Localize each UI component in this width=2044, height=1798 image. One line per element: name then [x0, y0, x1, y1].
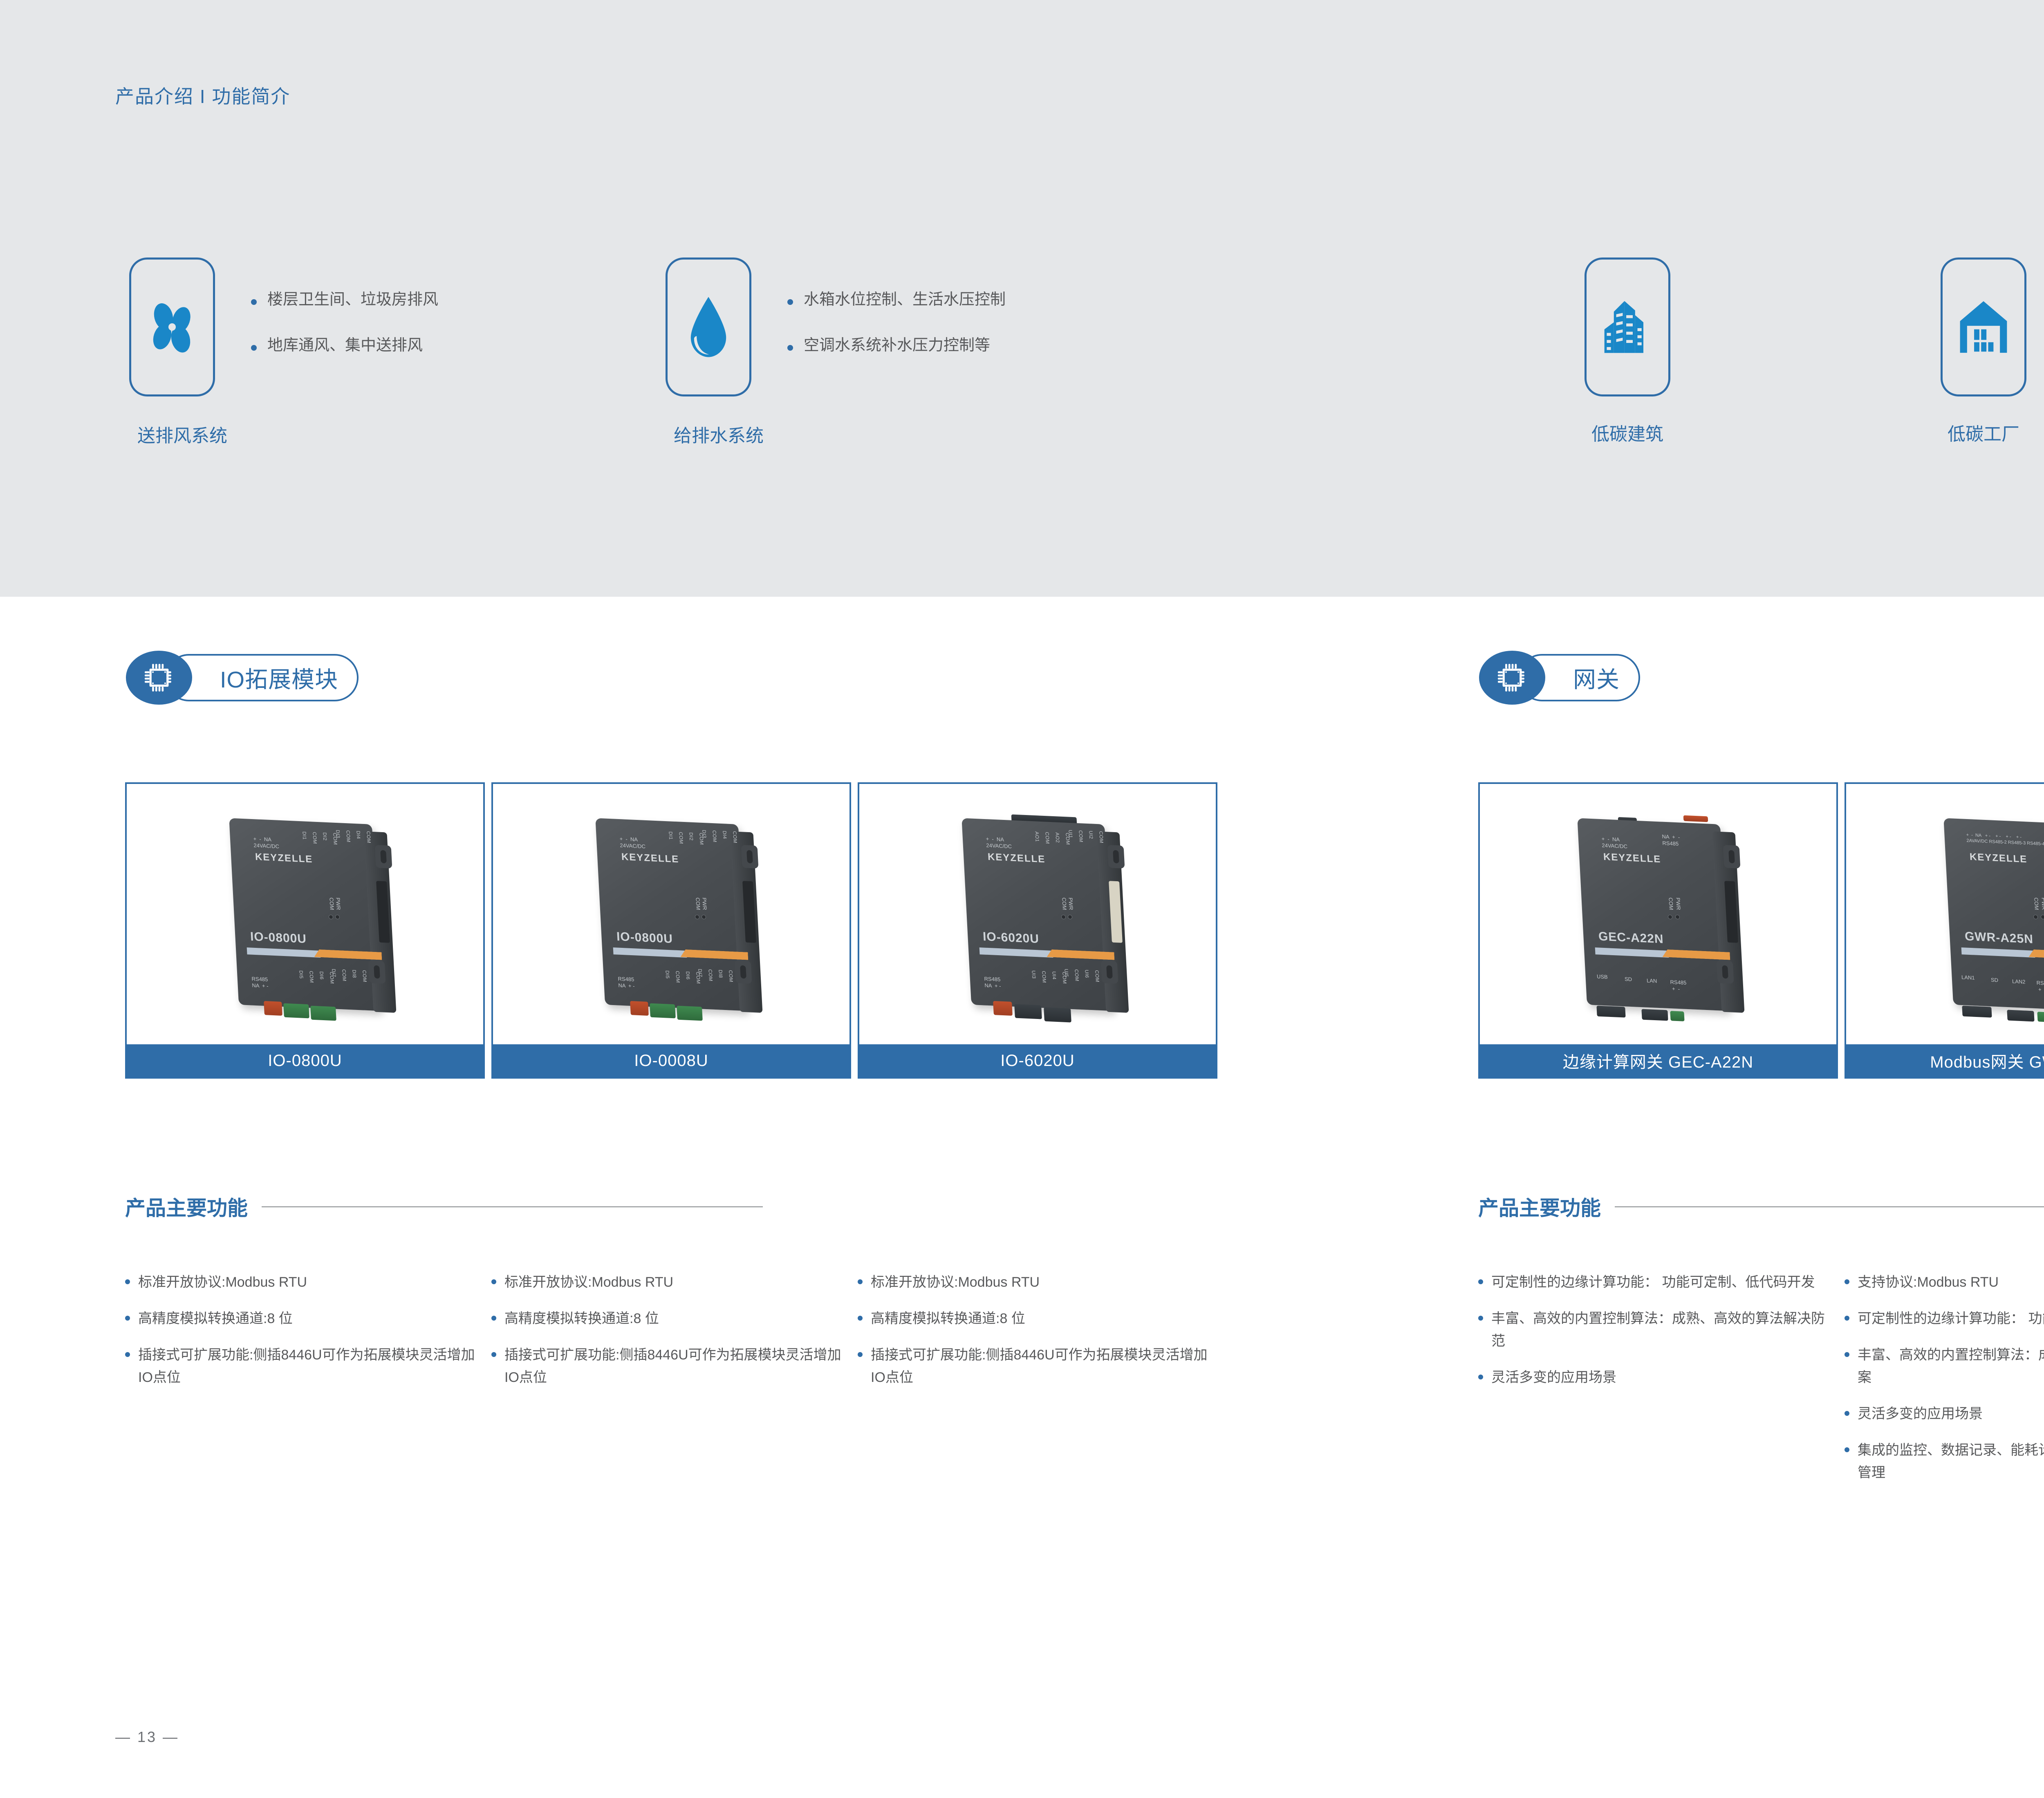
skyscraper-icon-box	[1585, 257, 1670, 396]
list-item: 高精度模拟转换通道:8 位	[491, 1308, 851, 1330]
device-top-terminals: DI1COMDI2COM	[301, 831, 338, 845]
features-column-1: 标准开放协议:Modbus RTU 高精度模拟转换通道:8 位 插接式可扩展功能…	[125, 1271, 485, 1403]
device-led-pwr-label: PWR	[335, 898, 342, 910]
device-top-connector-red	[1683, 815, 1708, 822]
device-mount-tab-bottom	[1101, 960, 1118, 984]
list-item: 插接式可扩展功能:侧插8446U可作为拓展模块灵活增加IO点位	[858, 1344, 1217, 1389]
product-label: IO-6020U	[859, 1044, 1216, 1077]
section-badge-pill: IO拓展模块	[165, 654, 359, 701]
device-connector-green-2	[677, 1006, 703, 1021]
device-led-com-label: COM	[1667, 898, 1674, 910]
bullet-dot-icon	[1845, 1447, 1849, 1452]
device-top-terminals: DI1COMDI2COM	[668, 831, 704, 845]
device-led-pwr-label: PWR	[1675, 898, 1682, 910]
section-badge-label: IO拓展模块	[220, 661, 338, 694]
product-card[interactable]: + - NA24VAC/DC DI1COMDI2COM DI3COMDI4COM…	[491, 782, 851, 1079]
device-led-pwr-label: PWR	[1067, 898, 1074, 910]
device-connector-dark-1	[1014, 1004, 1042, 1019]
bullet-dot-icon	[125, 1316, 130, 1321]
device-bottom-terminals: UI3COMUI4COM	[1031, 970, 1067, 984]
water-drop-icon-box	[666, 257, 751, 396]
device-mount-tab-bottom	[1717, 960, 1734, 984]
list-item: 插接式可扩展功能:侧插8446U可作为拓展模块灵活增加IO点位	[125, 1344, 485, 1389]
tile-caption: 低碳工厂	[1948, 419, 2019, 446]
device-port-sd-label: SD	[1991, 977, 1999, 984]
bullet-dot-icon	[1478, 1279, 1483, 1284]
device-rs485-top-label: NA + -RS485	[1662, 833, 1680, 848]
product-card[interactable]: + - NA + - + - + - + -2AVAV/DC RS485-2 R…	[1845, 782, 2044, 1079]
water-drop-icon	[684, 294, 733, 360]
product-image: + - NA + - + - + - + -2AVAV/DC RS485-2 R…	[1846, 784, 2044, 1048]
section-badge-label: 网关	[1573, 661, 1620, 694]
heading-rule	[1615, 1206, 2044, 1207]
device-rs485-label: RS485NA + -	[251, 976, 269, 990]
bullet-dot-icon	[1478, 1375, 1483, 1379]
factory-icon	[1957, 298, 2010, 356]
device-port-lan-label: LAN	[1647, 977, 1657, 984]
device-port-rs485-label: RS485 + -	[1670, 979, 1687, 993]
product-image: + - NA24VAC/DC DI1COMDI2COM DI3COMDI4COM…	[493, 784, 849, 1048]
bullet-dot-icon	[491, 1279, 496, 1284]
device-led-com	[1061, 915, 1066, 920]
product-label: 边缘计算网关 GEC-A22N	[1480, 1044, 1836, 1077]
bullet-dot-icon	[787, 299, 793, 305]
device-port-lan1-label: LAN1	[1961, 974, 1975, 981]
list-item: 集成的监控、数据记录、能耗计量、报警、调度和网络管理	[1845, 1439, 2044, 1484]
device-connector-red	[993, 1001, 1013, 1016]
device-mount-tab-bottom	[368, 960, 386, 984]
device-lan1-port	[1962, 1005, 1992, 1017]
product-card[interactable]: + - NA24VAC/DC NA + -RS485 KEYZELLE COM …	[1478, 782, 1838, 1079]
device-port-rs485-1-label: RS485-1 + -	[2036, 980, 2044, 994]
device-power-label: + - NA24VAC/DC	[1601, 836, 1627, 850]
fan-icon	[141, 296, 203, 358]
device-mount-tab-top	[741, 845, 759, 869]
bullet-dot-icon	[787, 345, 793, 351]
device-rs485-label: RS485NA + -	[618, 976, 635, 990]
bullet-dot-icon	[1478, 1316, 1483, 1321]
device-led-com-label: COM	[328, 898, 335, 910]
product-image: + - NA24VAC/DC NA + -RS485 KEYZELLE COM …	[1480, 784, 1836, 1048]
device-bottom-terminals: DI5COMDI6COM	[664, 970, 701, 984]
device-rs485-label: RS485NA + -	[984, 976, 1001, 990]
list-item: 灵活多变的应用场景	[1845, 1403, 2044, 1425]
list-item: 地库通风、集中送排风	[251, 336, 438, 356]
device-power-label: + - NA24VAC/DC	[986, 836, 1012, 850]
product-card[interactable]: + - NA24VAC/DC AO1COMAO2COM UI1COMUI2COM…	[858, 782, 1217, 1079]
features-heading-gateway: 产品主要功能	[1478, 1192, 2044, 1221]
device-bottom-terminals-2: DI7COMDI8COM	[331, 969, 368, 983]
device-bottom-terminals: DI5COMDI6COM	[298, 970, 335, 984]
device-connector-green-1	[283, 1003, 309, 1019]
device-rs485-connector	[1670, 1011, 1684, 1021]
device-top-terminals: AO1COMAO2COM	[1034, 831, 1071, 845]
list-item: 支持协议:Modbus RTU	[1845, 1271, 2044, 1294]
scenario-water-caption: 给排水系统	[666, 421, 772, 447]
brochure-page: 产品介绍 I 功能简介 产品介绍 I 功能简介 楼层卫生间、垃圾房排风	[0, 0, 2044, 1798]
device-connector-red	[264, 1001, 282, 1016]
device-connector-dark-2	[1044, 1007, 1071, 1022]
device-led-pwr-label: PWR	[701, 898, 708, 910]
list-item: 可定制性的边缘计算功能： 功能可定制、低代码开发	[1845, 1308, 2044, 1330]
list-item: 丰富、高效的内置控制算法：成熟、高效的算法解决方案	[1845, 1344, 2044, 1389]
device-lan-port	[1641, 1009, 1668, 1021]
list-item: 空调水系统补水压力控制等	[787, 336, 1006, 356]
scenario-ventilation: 楼层卫生间、垃圾房排风 地库通风、集中送排风 送排风系统	[129, 257, 620, 450]
list-item: 高精度模拟转换通道:8 位	[125, 1308, 485, 1330]
list-item: 标准开放协议:Modbus RTU	[858, 1271, 1217, 1294]
features-column-gateway-2: 支持协议:Modbus RTU 可定制性的边缘计算功能： 功能可定制、低代码开发…	[1845, 1271, 2044, 1498]
device-led-com-label: COM	[2033, 898, 2040, 910]
list-item: 标准开放协议:Modbus RTU	[491, 1271, 851, 1294]
page-header-left: 产品介绍 I 功能简介	[115, 82, 290, 109]
device-port-sd-label: SD	[1625, 976, 1632, 983]
device-bottom-terminals-2: UI5COMUI6COM	[1063, 969, 1100, 983]
page-number-left: — 13 —	[115, 1729, 179, 1746]
product-label: Modbus网关 GWR-A25N	[1846, 1044, 2044, 1077]
features-column-gateway-1: 可定制性的边缘计算功能： 功能可定制、低代码开发 丰富、高效的内置控制算法：成熟…	[1478, 1271, 1826, 1403]
bullet-dot-icon	[1845, 1316, 1849, 1321]
scenario-ventilation-bullets: 楼层卫生间、垃圾房排风 地库通风、集中送排风	[251, 290, 438, 355]
list-item: 水箱水位控制、生活水压控制	[787, 290, 1006, 310]
fan-icon-box	[129, 257, 215, 396]
bullet-dot-icon	[1845, 1279, 1849, 1284]
heading-rule	[262, 1206, 763, 1207]
chip-icon	[126, 651, 192, 705]
bullet-dot-icon	[125, 1279, 130, 1284]
device-power-label: + - NA24VAC/DC	[619, 836, 645, 850]
product-image: + - NA24VAC/DC AO1COMAO2COM UI1COMUI2COM…	[859, 784, 1216, 1048]
features-heading-io: 产品主要功能	[125, 1192, 763, 1221]
device-led-pwr-label: PWR	[2040, 898, 2044, 910]
factory-icon-box	[1941, 257, 2026, 396]
product-image: + - NA24VAC/DC DI1COMDI2COM DI3COMDI4COM…	[127, 784, 483, 1048]
device-led-pwr	[335, 915, 340, 920]
device-connector-green-1	[650, 1003, 676, 1019]
product-card[interactable]: + - NA24VAC/DC DI1COMDI2COM DI3COMDI4COM…	[125, 782, 485, 1079]
list-item: 灵活多变的应用场景	[1478, 1366, 1826, 1389]
skyscraper-icon	[1601, 296, 1654, 358]
list-item: 高精度模拟转换通道:8 位	[858, 1308, 1217, 1330]
device-top-terminals-2: DI3COMDI4COM	[701, 830, 738, 844]
bullet-dot-icon	[1845, 1411, 1849, 1416]
features-column-3: 标准开放协议:Modbus RTU 高精度模拟转换通道:8 位 插接式可扩展功能…	[858, 1271, 1217, 1403]
device-model: IO-0800U	[250, 930, 307, 946]
device-led-com-label: COM	[695, 898, 702, 910]
device-top-terminals-2: UI1COMUI2COM	[1067, 830, 1104, 844]
bullet-dot-icon	[251, 299, 257, 305]
device-connector-green-2	[310, 1006, 336, 1021]
device-usb-port	[1596, 1005, 1625, 1017]
device-mount-tab-bottom	[735, 960, 752, 984]
device-led-com	[695, 915, 700, 920]
bullet-dot-icon	[858, 1279, 863, 1284]
device-rs485-connector	[2037, 1012, 2044, 1022]
list-item: 丰富、高效的内置控制算法：成熟、高效的算法解决防范	[1478, 1308, 1826, 1352]
list-item: 插接式可扩展功能:侧插8446U可作为拓展模块灵活增加IO点位	[491, 1344, 851, 1389]
device-led-pwr	[702, 915, 706, 920]
scenario-water: 水箱水位控制、生活水压控制 空调水系统补水压力控制等 给排水系统	[666, 257, 1156, 450]
bullet-dot-icon	[858, 1352, 863, 1357]
list-item: 标准开放协议:Modbus RTU	[125, 1271, 485, 1294]
device-mount-tab-top	[375, 845, 392, 869]
device-model: IO-6020U	[982, 930, 1040, 946]
device-top-terminals-2: DI3COMDI4COM	[335, 830, 372, 844]
bullet-dot-icon	[1845, 1352, 1849, 1357]
device-lan2-port	[2007, 1010, 2034, 1022]
device-led-pwr	[1675, 915, 1680, 920]
list-item: 可定制性的边缘计算功能： 功能可定制、低代码开发	[1478, 1271, 1826, 1294]
device-led-com	[1668, 915, 1673, 920]
tile-caption: 低碳建筑	[1591, 419, 1663, 446]
device-bottom-terminals-2: DI7COMDI8COM	[697, 969, 734, 983]
device-mount-tab-top	[1107, 845, 1125, 869]
bullet-dot-icon	[491, 1316, 496, 1321]
device-led-pwr	[1068, 915, 1073, 920]
device-connector-red	[630, 1001, 649, 1016]
bullet-dot-icon	[491, 1352, 496, 1357]
features-column-2: 标准开放协议:Modbus RTU 高精度模拟转换通道:8 位 插接式可扩展功能…	[491, 1271, 851, 1403]
device-port-usb-label: USB	[1597, 973, 1608, 980]
bullet-dot-icon	[251, 345, 257, 351]
chip-icon	[1479, 651, 1545, 705]
device-model: IO-0800U	[616, 930, 673, 946]
bullet-dot-icon	[125, 1352, 130, 1357]
product-label: IO-0008U	[493, 1044, 849, 1077]
bullet-dot-icon	[858, 1316, 863, 1321]
device-led-com	[329, 915, 334, 920]
list-item: 楼层卫生间、垃圾房排风	[251, 290, 438, 310]
device-model: GEC-A22N	[1598, 929, 1664, 946]
scenario-water-bullets: 水箱水位控制、生活水压控制 空调水系统补水压力控制等	[787, 290, 1006, 355]
device-led-com-label: COM	[1061, 898, 1068, 910]
device-led-com	[2033, 915, 2038, 920]
scenario-ventilation-caption: 送排风系统	[129, 421, 235, 447]
device-mount-tab-top	[1723, 845, 1741, 869]
product-label: IO-0800U	[127, 1044, 483, 1077]
device-port-lan2-label: LAN2	[2012, 978, 2026, 985]
device-power-label: + - NA24VAC/DC	[253, 836, 279, 850]
